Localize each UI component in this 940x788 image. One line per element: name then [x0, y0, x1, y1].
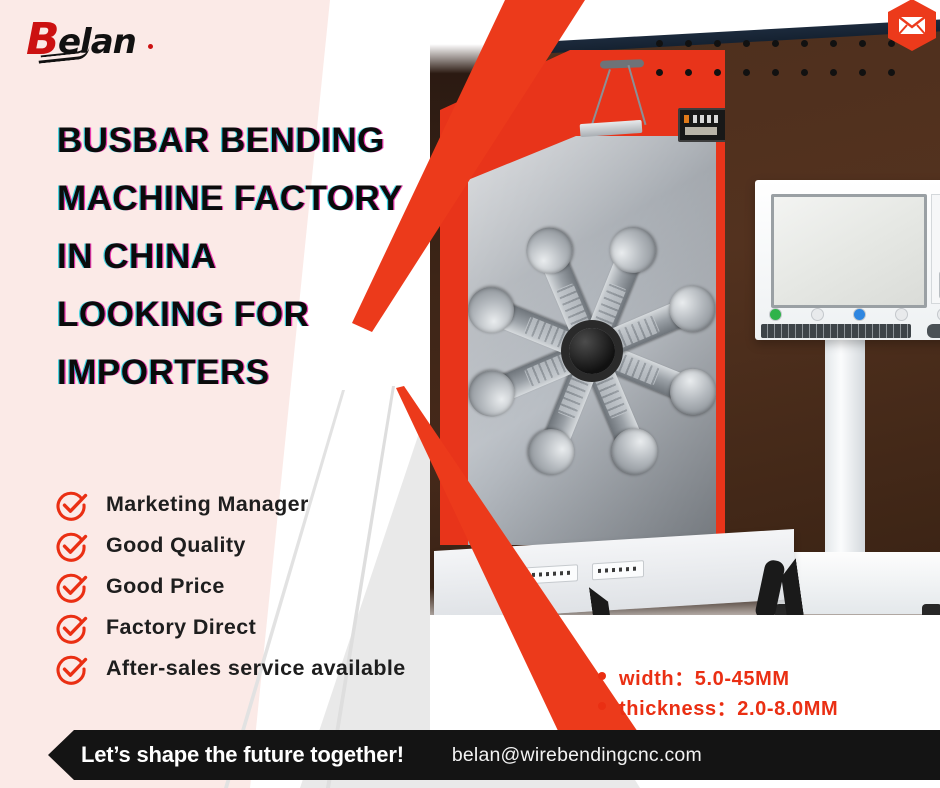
- list-item: Marketing Manager: [55, 484, 406, 525]
- page-title: BUSBAR BENDING MACHINE FACTORY IN CHINA …: [57, 112, 477, 402]
- feature-label: Marketing Manager: [106, 492, 309, 517]
- decorative-dot-grid: [656, 40, 917, 98]
- check-circle-icon: [55, 488, 89, 522]
- bullet-icon: [598, 672, 606, 680]
- envelope-icon[interactable]: [884, 0, 940, 53]
- start-button-indicator: [769, 308, 782, 321]
- footer-email-link[interactable]: belan@wirebendingcnc.com: [452, 744, 702, 767]
- work-lamp-head: [580, 120, 643, 137]
- footer-tagline: Let’s shape the future together!: [81, 742, 404, 768]
- logo-wordmark: elan: [58, 22, 136, 62]
- control-panel-side-column: [931, 194, 940, 304]
- check-circle-icon: [55, 652, 89, 686]
- control-panel-keyboard: [761, 324, 911, 338]
- panel-button-2: [811, 308, 824, 321]
- feature-label: Good Quality: [106, 533, 246, 558]
- list-item: Good Price: [55, 566, 406, 607]
- headline-line-5: IMPORTERS: [57, 344, 477, 402]
- control-panel-screen: [771, 194, 927, 308]
- feature-label: After-sales service available: [106, 656, 406, 681]
- check-circle-icon: [55, 529, 89, 563]
- headline-line-4: LOOKING FOR: [57, 286, 477, 344]
- check-circle-icon: [55, 570, 89, 604]
- cnc-control-panel: [755, 180, 940, 340]
- panel-button-4: [895, 308, 908, 321]
- control-panel-stand-column: [825, 330, 865, 570]
- bullet-icon: [598, 702, 606, 710]
- feature-list: Marketing Manager Good Quality Good Pric…: [55, 484, 406, 689]
- spec-text: thickness：2.0-8.0MM: [619, 692, 838, 721]
- specification-list: width：5.0-45MM thickness：2.0-8.0MM: [598, 661, 838, 721]
- logo-dot-icon: [148, 44, 153, 49]
- work-lamp-arm-left: [591, 69, 611, 125]
- headline-line-3: IN CHINA: [57, 228, 477, 286]
- panel-button-3: [853, 308, 866, 321]
- list-item: After-sales service available: [55, 648, 406, 689]
- list-item: Good Quality: [55, 525, 406, 566]
- spec-item-thickness: thickness：2.0-8.0MM: [598, 691, 838, 721]
- control-panel-mouse: [927, 324, 940, 338]
- feature-label: Good Price: [106, 574, 225, 599]
- headline-line-2: MACHINE FACTORY: [57, 170, 477, 228]
- machine-tooling-plate: [468, 136, 716, 566]
- promo-poster: B elan BUSBAR BENDING MACHINE FACTORY IN…: [0, 0, 940, 788]
- work-lamp-arm-right: [627, 65, 646, 125]
- footer-bar: Let’s shape the future together! belan@w…: [48, 730, 940, 780]
- base-connector-port-2: [592, 560, 644, 580]
- spec-item-width: width：5.0-45MM: [598, 661, 838, 691]
- belan-logo[interactable]: B elan: [26, 14, 176, 66]
- control-panel-button-row: [769, 308, 940, 322]
- work-lamp-crossbar: [600, 59, 644, 69]
- list-item: Factory Direct: [55, 607, 406, 648]
- spec-text: width：5.0-45MM: [619, 662, 790, 691]
- headline-line-1: BUSBAR BENDING: [57, 112, 477, 170]
- machine-center-hub: [569, 328, 615, 374]
- check-circle-icon: [55, 611, 89, 645]
- machine-label-plate: [678, 108, 730, 142]
- feature-label: Factory Direct: [106, 615, 256, 640]
